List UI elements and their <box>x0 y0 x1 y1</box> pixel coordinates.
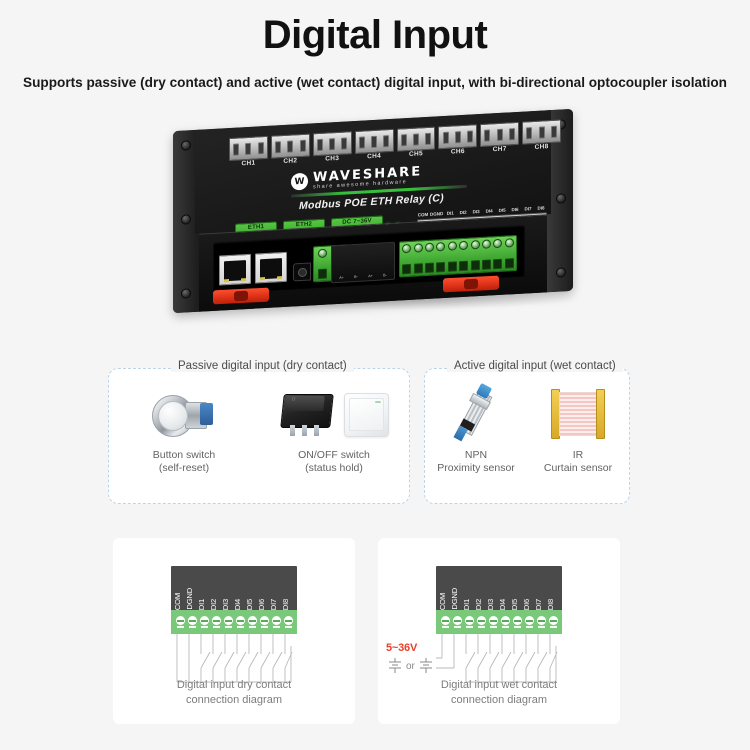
channel-connector <box>271 134 310 159</box>
channel-label: CH7 <box>480 145 519 154</box>
dry-diagram-caption: Digital input dry contact connection dia… <box>113 678 355 708</box>
device-input-label: DGND <box>430 211 443 217</box>
ir-caption-2: Curtain sensor <box>544 462 612 475</box>
wet-caption-line1: Digital input wet contact <box>378 678 620 693</box>
device-input-label: DI1 <box>444 210 456 216</box>
device-input-label: COM <box>417 212 429 218</box>
screw-icon <box>181 140 191 151</box>
rs485-terminal-block: A+ B- A+ B- <box>331 242 395 284</box>
terminal-screw-icon <box>198 616 210 628</box>
dry-terminal-label: DI8 <box>282 598 294 610</box>
ir-curtain-sensor-icon <box>549 387 607 441</box>
device-input-label: DI6 <box>509 207 521 213</box>
item-button-switch: Button switch (self-reset) <box>109 383 259 475</box>
din-mount-tab <box>213 288 269 305</box>
dry-caption-line1: Digital input dry contact <box>113 678 355 693</box>
channel-connector <box>313 131 352 156</box>
device-input-label: DI4 <box>483 208 495 214</box>
channel-label: CH5 <box>397 150 436 159</box>
wet-terminal-label: DI8 <box>547 598 559 610</box>
terminal-screw-icon <box>186 616 198 628</box>
item-onoff-switch: ON/OFF switch (status hold) <box>259 383 409 475</box>
battery-symbol-icon <box>388 658 402 674</box>
channel-label: CH1 <box>229 159 268 168</box>
terminal-screw-icon <box>499 616 511 628</box>
device-top-face: CH1 CH2 CH3 CH4 CH5 CH6 CH7 CH8 W WAVESH… <box>195 110 551 234</box>
channel-connector <box>397 127 436 152</box>
page-subtitle: Supports passive (dry contact) and activ… <box>0 75 750 90</box>
terminal-screw-icon <box>523 616 535 628</box>
device-input-label: DI7 <box>522 206 534 212</box>
dry-caption-line2: connection diagram <box>113 693 355 708</box>
waveshare-logo-icon: W <box>291 173 308 191</box>
dc-barrel-jack <box>293 262 311 281</box>
wet-terminal-labels: COM DGND DI1 DI2 DI3 DI4 DI5 DI6 DI7 DI8 <box>436 566 562 610</box>
relay-pin-label: B- <box>354 275 358 279</box>
onoff-switch-caption-1: ON/OFF switch <box>298 449 370 462</box>
device-input-label: DI5 <box>496 207 508 213</box>
terminal-screw-icon <box>487 616 499 628</box>
npn-caption-1: NPN <box>437 449 515 462</box>
terminal-screw-icon <box>234 616 246 628</box>
digital-input-terminal-block <box>399 235 517 278</box>
panel-active-digital-input: Active digital input (wet contact) NPN P… <box>424 368 630 504</box>
dry-terminal-graphic: COM DGND DI1 DI2 DI3 DI4 DI5 DI6 DI7 DI8 <box>171 566 297 634</box>
wet-terminal-graphic: COM DGND DI1 DI2 DI3 DI4 DI5 DI6 DI7 DI8 <box>436 566 562 634</box>
channel-connector <box>438 124 477 149</box>
channel-label: CH3 <box>313 154 352 163</box>
din-mount-tab <box>443 276 499 293</box>
card-dry-contact-diagram: COM DGND DI1 DI2 DI3 DI4 DI5 DI6 DI7 DI8 <box>113 538 355 724</box>
terminal-screw-icon <box>174 616 186 628</box>
screw-icon <box>556 267 566 278</box>
channel-label: CH2 <box>271 157 310 166</box>
onoff-switch-caption-2: (status hold) <box>298 462 370 475</box>
channel-connector <box>480 122 519 147</box>
terminal-screw-icon <box>210 616 222 628</box>
relay-pin-label: B- <box>383 273 387 277</box>
panel-passive-digital-input: Passive digital input (dry contact) Butt… <box>108 368 410 504</box>
wet-source-or-label: or <box>406 661 415 672</box>
item-ir-curtain-sensor: IR Curtain sensor <box>527 383 629 475</box>
ir-caption-1: IR <box>544 449 612 462</box>
terminal-screw-icon <box>547 616 559 628</box>
device-enclosure: CH1 CH2 CH3 CH4 CH5 CH6 CH7 CH8 W WAVESH… <box>173 109 573 313</box>
screw-icon <box>181 214 191 225</box>
wet-caption-line2: connection diagram <box>378 693 620 708</box>
terminal-screw-icon <box>282 616 294 628</box>
channel-label: CH4 <box>355 152 394 161</box>
terminal-screw-icon <box>511 616 523 628</box>
terminal-screw-icon <box>222 616 234 628</box>
rj45-port-1 <box>219 254 251 286</box>
relay-pin-label: A+ <box>339 276 344 280</box>
panel-active-title: Active digital input (wet contact) <box>447 360 623 372</box>
terminal-screw-icon <box>270 616 282 628</box>
product-photo: CH1 CH2 CH3 CH4 CH5 CH6 CH7 CH8 W WAVESH… <box>165 112 585 322</box>
wet-source-voltage-label: 5~36V <box>386 642 417 654</box>
button-switch-caption-2: (self-reset) <box>153 462 215 475</box>
terminal-screw-icon <box>535 616 547 628</box>
wet-source-symbols: or <box>388 658 433 674</box>
wet-terminal-screws <box>436 610 562 634</box>
channel-connector <box>229 136 268 161</box>
battery-symbol-icon <box>419 658 433 674</box>
dry-terminal-screws <box>171 610 297 634</box>
terminal-screw-icon <box>439 616 451 628</box>
terminal-screw-icon <box>463 616 475 628</box>
device-input-label: DI2 <box>457 210 469 216</box>
rj45-port-2 <box>255 252 287 284</box>
terminal-screw-icon <box>258 616 270 628</box>
screw-icon <box>181 288 191 299</box>
relay-pin-label: A+ <box>368 274 373 278</box>
npn-proximity-sensor-icon <box>448 385 504 443</box>
device-input-label: DI8 <box>535 205 547 211</box>
button-switch-icon <box>152 391 216 437</box>
terminal-screw-icon <box>246 616 258 628</box>
channel-label: CH6 <box>438 147 477 156</box>
terminal-screw-icon <box>475 616 487 628</box>
card-wet-contact-diagram: COM DGND DI1 DI2 DI3 DI4 DI5 DI6 DI7 DI8… <box>378 538 620 724</box>
wet-diagram-caption: Digital input wet contact connection dia… <box>378 678 620 708</box>
terminal-screw-icon <box>451 616 463 628</box>
device-input-label: DI3 <box>470 209 482 215</box>
screw-icon <box>556 193 566 204</box>
channel-connector <box>355 129 394 154</box>
dry-terminal-labels: COM DGND DI1 DI2 DI3 DI4 DI5 DI6 DI7 DI8 <box>171 566 297 610</box>
npn-caption-2: Proximity sensor <box>437 462 515 475</box>
rocker-switch-icon <box>280 390 334 438</box>
wall-switch-icon <box>344 392 388 436</box>
channel-connector <box>522 119 561 144</box>
panel-passive-title: Passive digital input (dry contact) <box>171 360 354 372</box>
item-npn-proximity-sensor: NPN Proximity sensor <box>425 383 527 475</box>
page-title: Digital Input <box>0 12 750 58</box>
button-switch-caption-1: Button switch <box>153 449 215 462</box>
